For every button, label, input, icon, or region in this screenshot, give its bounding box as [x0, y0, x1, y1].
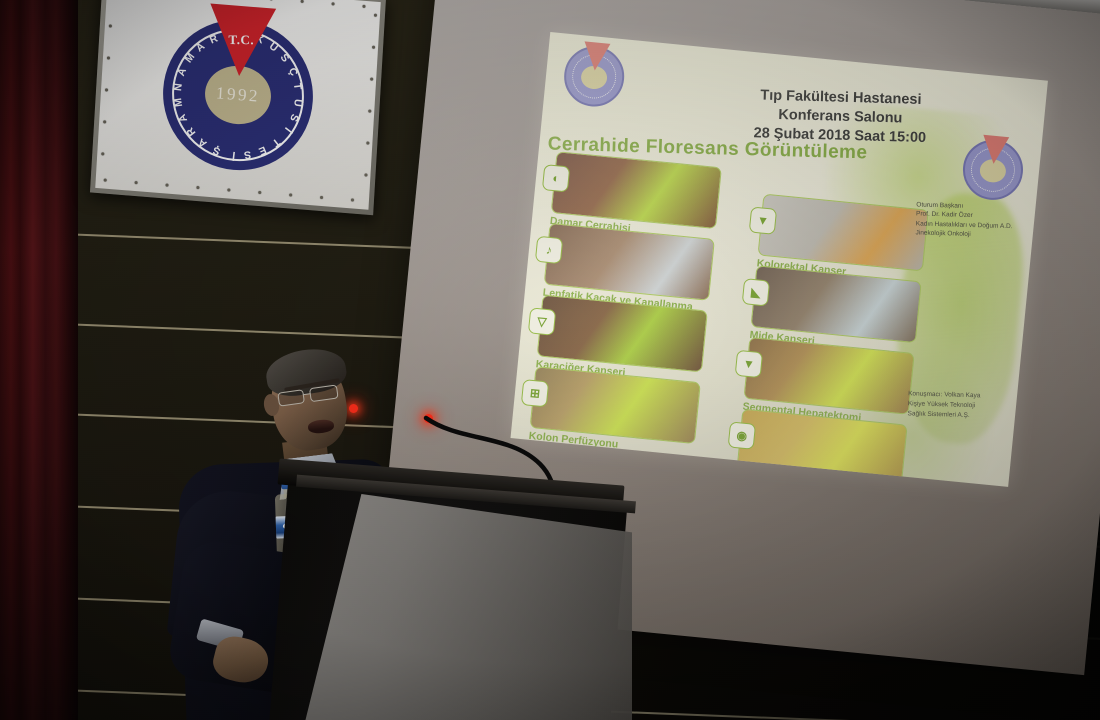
slide-logo-right: [960, 137, 1026, 203]
sign-bolt: [105, 88, 108, 91]
lymph-icon: ♪: [535, 236, 563, 264]
sign-bolt: [362, 5, 365, 8]
sign-bolt: [351, 198, 354, 201]
segment-icon: ▼: [735, 350, 763, 378]
sign-bolt: [331, 2, 334, 5]
colon-icon: ▼: [749, 206, 777, 234]
eyeglass-lens-right: [309, 384, 339, 402]
sign-bolt: [301, 0, 304, 3]
sign-bolt: [109, 24, 112, 27]
university-sign-panel: SİTESİŞARAMNAMARHAKÜSÇTÜ 1992 T.C.: [90, 0, 386, 215]
sign-bolt: [104, 178, 107, 181]
liver-icon: ▽: [528, 307, 556, 335]
slide-note-bottom-right: Konuşmacı: Volkan Kaya Kişiye Yüksek Tek…: [907, 389, 1012, 421]
sign-bolt: [165, 183, 168, 186]
sign-frame: SİTESİŞARAMNAMARHAKÜSÇTÜ 1992 T.C.: [90, 0, 386, 215]
sign-bolt: [101, 152, 104, 155]
curtain-shading: [0, 0, 78, 720]
sign-bolt: [196, 186, 199, 189]
slide-logo-left: [561, 44, 627, 110]
perfusion-icon: ⊞: [521, 379, 549, 407]
breast-icon: ◉: [728, 421, 756, 449]
sign-bolt: [368, 110, 371, 113]
sign-bolt: [366, 141, 369, 144]
sign-bolt: [289, 193, 292, 196]
sign-bolt: [370, 78, 373, 81]
slide-logo-flag-icon: [981, 135, 1010, 165]
sign-bolt: [103, 120, 106, 123]
sign-bolt: [135, 181, 138, 184]
slide-logo-flag-icon: [582, 41, 611, 71]
vessel-icon: ◐: [542, 164, 570, 192]
sign-bolt: [364, 173, 367, 176]
sign-bolt: [107, 56, 110, 59]
conference-photograph: SİTESİŞARAMNAMARHAKÜSÇTÜ 1992 T.C.: [0, 0, 1100, 720]
sign-bolts: [95, 0, 381, 210]
stage-curtain: [0, 0, 78, 720]
sign-bolt: [227, 188, 230, 191]
sign-bolt: [320, 196, 323, 199]
sign-bolt: [258, 191, 261, 194]
sign-face: SİTESİŞARAMNAMARHAKÜSÇTÜ 1992 T.C.: [95, 0, 381, 210]
eyeglass-lens-left: [277, 389, 305, 406]
sign-bolt: [372, 46, 375, 49]
slide-note-right: Oturum Başkanı Prof. Dr. Kadir Özer Kadı…: [915, 200, 1026, 241]
stomach-icon: ◣: [742, 278, 770, 306]
sign-bolt: [374, 14, 377, 17]
